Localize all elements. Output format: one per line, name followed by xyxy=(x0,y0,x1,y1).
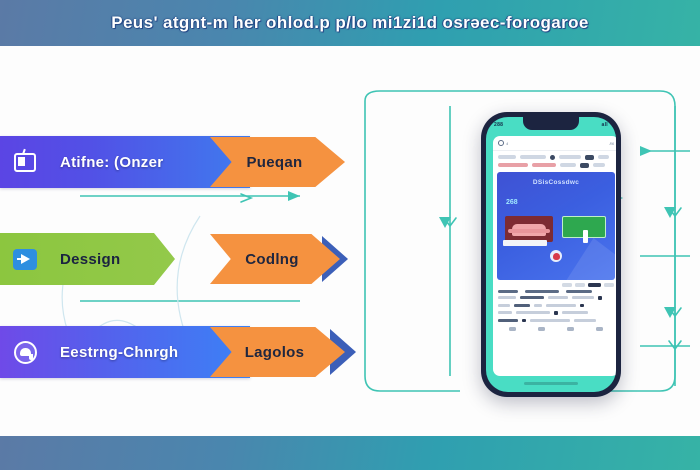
toolbar-right-text: 86 xyxy=(610,141,614,146)
action-button[interactable] xyxy=(538,327,545,331)
id-card-icon xyxy=(12,149,38,175)
cell-text xyxy=(548,296,568,299)
filter-chip[interactable] xyxy=(593,163,605,167)
stage-row-2[interactable]: Dessign Codlng xyxy=(0,233,345,285)
tab-item[interactable] xyxy=(562,283,572,287)
stage-bar-2[interactable]: Dessign xyxy=(0,233,175,285)
cell-text xyxy=(514,304,530,307)
table-row[interactable] xyxy=(498,311,614,315)
filter-chip[interactable] xyxy=(560,163,576,167)
cell-icon[interactable] xyxy=(554,311,558,315)
column-header xyxy=(525,290,559,293)
hero-badge: 268 xyxy=(506,199,518,206)
cell-text xyxy=(546,304,576,307)
cell-icon[interactable] xyxy=(598,296,602,300)
action-button[interactable] xyxy=(509,327,516,331)
table-row[interactable] xyxy=(498,304,614,308)
stage-arrow-label-1: Pueqan xyxy=(247,154,303,171)
action-button[interactable] xyxy=(596,327,603,331)
app-toolbar[interactable]: 4 86 xyxy=(493,136,616,151)
filter-chip[interactable] xyxy=(598,155,609,159)
cell-text xyxy=(572,296,594,299)
table-column-headers xyxy=(493,289,616,296)
stage-arrow-label-2: Codlng xyxy=(245,251,298,268)
filter-chip[interactable] xyxy=(520,155,546,159)
cell-text xyxy=(534,304,542,307)
slide-canvas: Peus' atgnt-m her ohlod.p p/lo mi1zi1d o… xyxy=(0,0,700,470)
filter-chip[interactable] xyxy=(498,155,516,159)
cell-text xyxy=(498,296,516,299)
filter-dot-icon[interactable] xyxy=(550,155,555,160)
back-control[interactable]: 4 xyxy=(498,140,508,146)
phone-mockup: 288 all 4 86 xyxy=(481,112,621,397)
stage-row-3[interactable]: Eestrng-Chnrgh Lagolos xyxy=(0,326,345,378)
back-icon[interactable] xyxy=(498,140,504,146)
toolbar-left-text: 4 xyxy=(506,141,508,146)
filter-chip-active[interactable] xyxy=(585,155,594,160)
cell-text xyxy=(562,311,588,314)
phone-screen: 288 all 4 86 xyxy=(486,117,616,392)
shelf-shape xyxy=(503,240,547,246)
sofa-icon xyxy=(512,224,546,236)
filter-chip[interactable] xyxy=(559,155,581,159)
tab-item[interactable] xyxy=(575,283,585,287)
stage-label-3: Eestrng-Chnrgh xyxy=(60,344,178,361)
filter-chip-active[interactable] xyxy=(580,163,589,168)
stage-arrow-label-3: Lagolos xyxy=(245,344,305,361)
phone-notch xyxy=(523,117,579,130)
cell-text xyxy=(498,311,512,314)
stage-arrow-2[interactable]: Codlng xyxy=(210,234,340,284)
status-time: 288 xyxy=(494,122,503,128)
home-indicator xyxy=(524,382,578,385)
page-title: Peus' atgnt-m her ohlod.p p/lo mi1zi1d o… xyxy=(0,0,700,46)
filter-chip-row[interactable] xyxy=(493,151,616,171)
app-window: 4 86 xyxy=(493,136,616,376)
action-button[interactable] xyxy=(567,327,574,331)
filter-chip-alert[interactable] xyxy=(532,163,556,167)
cell-text xyxy=(520,296,544,299)
stage-row-1[interactable]: Atifne: (Onzer Pueqan xyxy=(0,136,345,188)
stage-bar-3[interactable]: Eestrng-Chnrgh xyxy=(0,326,250,378)
table-row[interactable] xyxy=(498,296,614,300)
stage-bar-1[interactable]: Atifne: (Onzer xyxy=(0,136,250,188)
action-button-row[interactable] xyxy=(493,322,616,331)
seal-badge-icon xyxy=(550,250,562,262)
stage-label-2: Dessign xyxy=(60,251,120,268)
hero-title: DSisCossdwc xyxy=(497,179,615,186)
status-indicators: all xyxy=(602,122,608,128)
cell-text xyxy=(498,304,510,307)
stage-label-1: Atifne: (Onzer xyxy=(60,154,163,171)
filter-chip-alert[interactable] xyxy=(498,163,528,167)
badge-circle-icon xyxy=(12,339,38,365)
sofa-illustration xyxy=(505,216,553,242)
column-header xyxy=(498,290,518,293)
stage-list: Atifne: (Onzer Pueqan Dessign Codlng Ees… xyxy=(0,130,360,410)
tab-item[interactable] xyxy=(604,283,614,287)
cell-text xyxy=(516,311,550,314)
cursor-icon xyxy=(583,230,588,243)
tab-strip[interactable] xyxy=(493,280,616,289)
design-pen-icon xyxy=(12,246,38,272)
toolbar-right[interactable]: 86 xyxy=(610,141,614,146)
tab-item-active[interactable] xyxy=(588,283,601,287)
footer-band xyxy=(0,436,700,470)
table-body xyxy=(493,296,616,322)
cell-icon[interactable] xyxy=(580,304,584,308)
column-header xyxy=(566,290,592,293)
hero-banner[interactable]: DSisCossdwc 268 xyxy=(497,172,615,280)
